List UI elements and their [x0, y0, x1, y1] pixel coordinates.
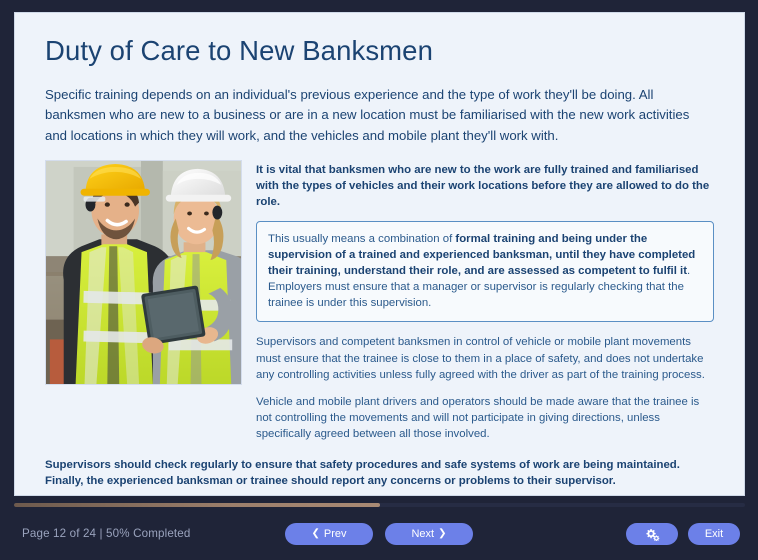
slide-content: Duty of Care to New Banksmen Specific tr… — [15, 13, 744, 490]
settings-button[interactable] — [626, 523, 678, 545]
callout-text-part1: This usually means a combination of — [268, 233, 455, 245]
bottom-toolbar: Page 12 of 24 | 50% Completed ❮ Prev Nex… — [0, 510, 758, 560]
utility-buttons: Exit — [626, 523, 740, 545]
cogs-icon — [645, 528, 660, 541]
drivers-paragraph: Vehicle and mobile plant drivers and ope… — [256, 394, 714, 443]
page-title: Duty of Care to New Banksmen — [45, 35, 714, 67]
intro-paragraph: Specific training depends on an individu… — [45, 85, 714, 146]
page-status: Page 12 of 24 | 50% Completed — [22, 527, 191, 540]
footer-note: Supervisors should check regularly to en… — [45, 457, 714, 490]
exit-button[interactable]: Exit — [688, 523, 740, 545]
prev-button[interactable]: ❮ Prev — [285, 523, 373, 545]
callout-box: This usually means a combination of form… — [256, 221, 714, 323]
right-column: It is vital that banksmen who are new to… — [256, 160, 714, 443]
prev-button-label: Prev — [324, 529, 347, 540]
exit-button-label: Exit — [705, 529, 723, 540]
navigation-buttons: ❮ Prev Next ❯ — [285, 523, 473, 545]
content-row: It is vital that banksmen who are new to… — [45, 160, 714, 443]
slide-panel: Duty of Care to New Banksmen Specific tr… — [14, 12, 745, 496]
progress-bar-fill — [14, 503, 380, 507]
supervisors-paragraph: Supervisors and competent banksmen in co… — [256, 334, 714, 383]
chevron-right-icon: ❯ — [438, 529, 446, 539]
next-button[interactable]: Next ❯ — [385, 523, 473, 545]
progress-bar-track — [14, 503, 745, 507]
chevron-left-icon: ❮ — [311, 529, 319, 539]
lead-paragraph: It is vital that banksmen who are new to… — [256, 162, 714, 211]
workers-photo — [45, 160, 242, 385]
next-button-label: Next — [411, 529, 434, 540]
